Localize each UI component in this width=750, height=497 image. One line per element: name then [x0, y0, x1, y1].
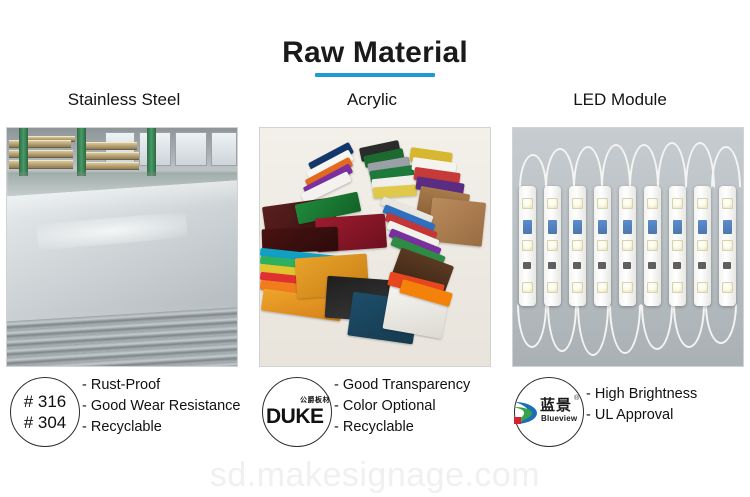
led-chip — [597, 282, 608, 293]
duke-badge-circle: DUKE 公爵板材 — [262, 377, 332, 447]
stainless-steel-benefits: - Rust-Proof - Good Wear Resistance - Re… — [82, 375, 254, 438]
led-chip — [572, 240, 583, 251]
benefit-item: - Good Transparency — [334, 375, 512, 396]
duke-logo-word: UKE — [281, 405, 324, 428]
led-chip — [597, 240, 608, 251]
acrylic-benefits: - Good Transparency - Color Optional - R… — [334, 375, 512, 438]
led-chip — [522, 282, 533, 293]
led-chip — [722, 282, 733, 293]
led-ic-mark — [698, 262, 706, 269]
blueview-badge-circle: 蓝景 Blueview ® — [514, 377, 584, 447]
led-ic-mark — [648, 262, 656, 269]
led-chip — [622, 282, 633, 293]
page-title: Raw Material — [0, 36, 750, 70]
led-brand-label — [698, 220, 707, 234]
led-module-strip — [569, 186, 586, 306]
column-header-led-module: LED Module — [496, 89, 744, 111]
blueview-logo-english: Blueview — [541, 414, 577, 423]
photo-row — [0, 127, 750, 367]
led-chip — [547, 240, 558, 251]
led-ic-mark — [623, 262, 631, 269]
led-chip — [697, 240, 708, 251]
led-brand-label — [623, 220, 632, 234]
led-chip — [697, 198, 708, 209]
green-pillar — [19, 128, 28, 176]
benefit-item: - Rust-Proof — [82, 375, 254, 396]
green-pillar — [147, 128, 156, 176]
page-title-block: Raw Material — [0, 36, 750, 77]
led-chip — [622, 198, 633, 209]
led-module-strip — [594, 186, 611, 306]
stacked-pallet — [85, 152, 139, 160]
warehouse-window — [211, 132, 237, 166]
green-pillar — [77, 128, 86, 176]
led-chip — [722, 198, 733, 209]
led-module-strip — [619, 186, 636, 306]
registered-trademark-icon: ® — [574, 395, 579, 402]
feature-stainless-steel: # 316 # 304 - Rust-Proof - Good Wear Res… — [4, 375, 252, 455]
led-chip — [572, 282, 583, 293]
photo-stainless-steel — [6, 127, 238, 367]
duke-logo-text: DUKE — [266, 406, 324, 427]
led-module-strip — [544, 186, 561, 306]
steel-sheet-surface — [6, 179, 238, 326]
led-ic-mark — [548, 262, 556, 269]
benefit-item: - High Brightness — [586, 384, 750, 405]
column-header-stainless-steel: Stainless Steel — [0, 89, 248, 111]
led-ic-mark — [673, 262, 681, 269]
led-brand-label — [723, 220, 732, 234]
led-module-strip — [519, 186, 536, 306]
benefit-item: - UL Approval — [586, 405, 750, 426]
led-chip — [722, 240, 733, 251]
led-chip — [672, 240, 683, 251]
led-ic-mark — [573, 262, 581, 269]
grade-badge-circle: # 316 # 304 — [10, 377, 80, 447]
led-chip — [697, 282, 708, 293]
led-brand-label — [548, 220, 557, 234]
led-ic-mark — [598, 262, 606, 269]
led-chip — [522, 240, 533, 251]
led-chip — [647, 240, 658, 251]
led-chip — [647, 282, 658, 293]
photo-led-module — [512, 127, 744, 367]
raw-material-infographic: Raw Material Stainless Steel Acrylic LED… — [0, 0, 750, 497]
feature-led-module: 蓝景 Blueview ® - High Brightness - UL App… — [508, 375, 750, 455]
feature-acrylic: DUKE 公爵板材 - Good Transparency - Color Op… — [256, 375, 504, 455]
benefit-item: - Recyclable — [82, 417, 254, 438]
led-module-strip — [719, 186, 736, 306]
blueview-logo: 蓝景 Blueview ® — [514, 395, 584, 429]
led-brand-label — [598, 220, 607, 234]
led-brand-label — [673, 220, 682, 234]
led-chip — [672, 282, 683, 293]
led-chip — [647, 198, 658, 209]
led-ic-mark — [523, 262, 531, 269]
led-brand-label — [573, 220, 582, 234]
warehouse-window — [175, 132, 207, 166]
title-underline-accent — [315, 73, 435, 77]
site-watermark: sd.makesignage.com — [0, 455, 750, 495]
stacked-pallet — [85, 162, 139, 170]
led-benefits: - High Brightness - UL Approval — [586, 375, 750, 426]
led-module-strip — [644, 186, 661, 306]
steel-grade-304: # 304 — [24, 412, 67, 433]
led-chip — [572, 198, 583, 209]
led-chip — [597, 198, 608, 209]
feature-row: # 316 # 304 - Rust-Proof - Good Wear Res… — [0, 375, 750, 455]
duke-logo-chinese: 公爵板材 — [300, 397, 330, 405]
stacked-pallet — [85, 142, 137, 150]
steel-grade-316: # 316 — [24, 391, 67, 412]
led-chip — [622, 240, 633, 251]
benefit-item: - Recyclable — [334, 417, 512, 438]
column-headers: Stainless Steel Acrylic LED Module — [0, 89, 750, 111]
duke-logo: DUKE 公爵板材 — [266, 397, 328, 427]
led-brand-label — [648, 220, 657, 234]
duke-logo-letter: D — [266, 405, 281, 428]
led-brand-label — [523, 220, 532, 234]
led-chip — [522, 198, 533, 209]
blueview-swoosh-icon — [512, 398, 542, 428]
benefit-item: - Good Wear Resistance — [82, 396, 254, 417]
led-ic-mark — [723, 262, 731, 269]
benefit-item: - Color Optional — [334, 396, 512, 417]
led-module-strip — [669, 186, 686, 306]
photo-acrylic — [259, 127, 491, 367]
led-chip — [672, 198, 683, 209]
led-module-strip — [694, 186, 711, 306]
blueview-logo-chinese: 蓝景 — [540, 397, 572, 414]
led-chip — [547, 198, 558, 209]
led-chip — [547, 282, 558, 293]
column-header-acrylic: Acrylic — [248, 89, 496, 111]
